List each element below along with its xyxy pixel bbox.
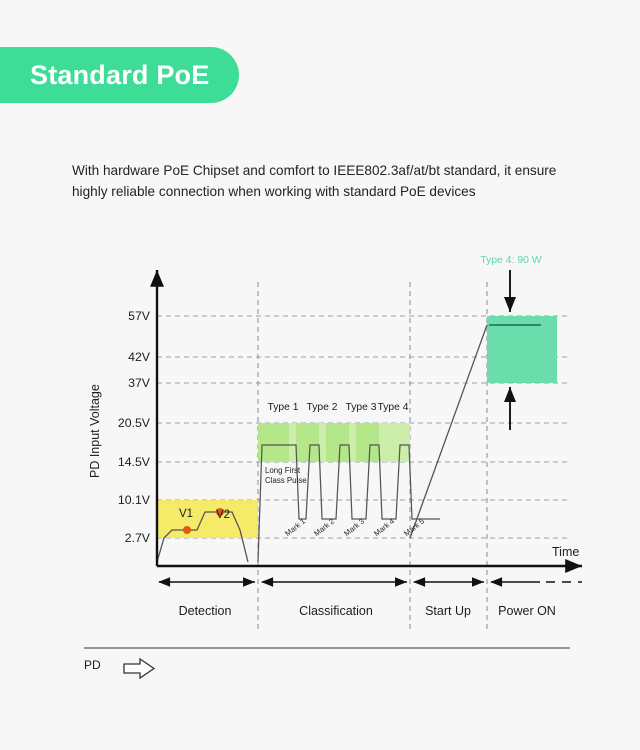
long-first-class-pulse-note-line2: Class Pulse xyxy=(265,476,307,486)
classification-waveform xyxy=(258,445,440,562)
phase-label-detection: Detection xyxy=(179,604,232,618)
phase-label-poweron: Power ON xyxy=(498,604,556,618)
classification-voltage-band xyxy=(258,423,410,462)
power-on-annotation: Type 4: 90 W xyxy=(480,255,541,266)
v1-marker xyxy=(183,526,191,534)
type-label-4: Type 4 xyxy=(378,402,409,413)
type-label-1: Type 1 xyxy=(268,402,299,413)
power-on-voltage-band xyxy=(487,316,557,383)
phase-label-classification: Classification xyxy=(299,604,373,618)
v2-label: V2 xyxy=(216,509,230,521)
pd-arrow-icon xyxy=(124,659,154,678)
type-label-2: Type 2 xyxy=(307,402,338,413)
poe-page: Standard PoE With hardware PoE Chipset a… xyxy=(0,0,640,750)
v1-label: V1 xyxy=(179,508,193,520)
poe-negotiation-chart: PD Input Voltage 57V 42V 37V 20.5V 14.5V… xyxy=(0,0,640,750)
x-axis-title: Time xyxy=(552,545,579,559)
type-label-3: Type 3 xyxy=(346,402,377,413)
chart-svg xyxy=(0,0,640,750)
pd-label: PD xyxy=(84,658,101,672)
detection-voltage-band xyxy=(157,500,258,538)
long-first-class-pulse-note-line1: Long First xyxy=(265,466,300,476)
phase-label-startup: Start Up xyxy=(425,604,471,618)
